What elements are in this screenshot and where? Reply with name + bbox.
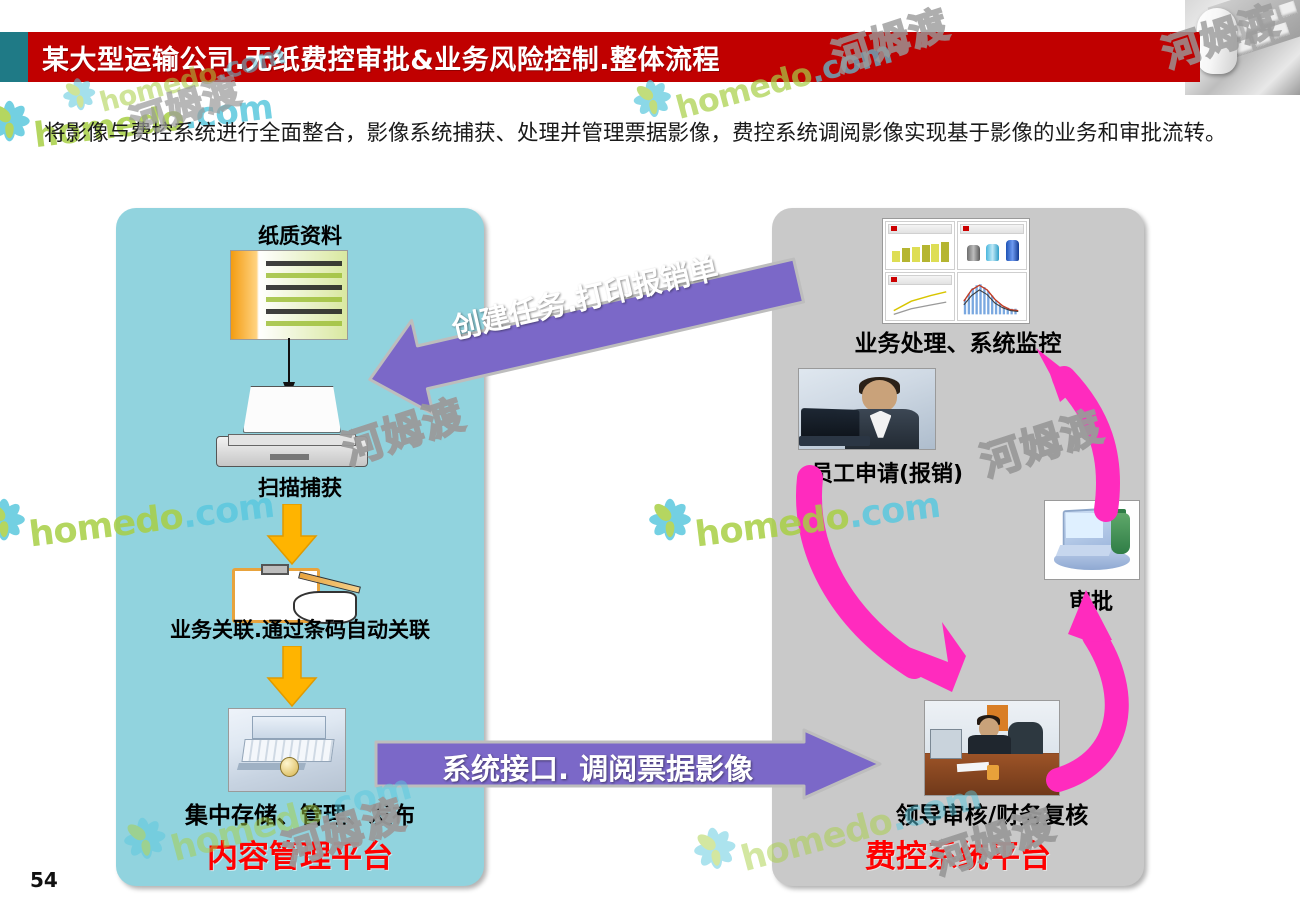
pink-arrow-review-to-approve bbox=[1028, 584, 1148, 784]
flatbed-scanner-image bbox=[216, 386, 366, 472]
paper-stack-image bbox=[230, 250, 348, 340]
flower-icon bbox=[0, 100, 30, 142]
connector-create-task-arrow: 创建任务.打印报销单 bbox=[360, 268, 810, 408]
pink-arrow-approve-to-monitor bbox=[1002, 344, 1142, 514]
dash-cell-cylinder bbox=[957, 221, 1027, 270]
flower-icon bbox=[0, 498, 25, 541]
slide-title-bar: 某大型运输公司.无纸费控审批&业务风险控制.整体流程 bbox=[0, 32, 1200, 82]
corner-photo-decoration bbox=[1185, 0, 1300, 95]
pink-arrow-employee-to-review bbox=[802, 470, 1022, 720]
yellow-down-arrow-2 bbox=[266, 646, 318, 708]
employee-laptop-photo bbox=[798, 368, 936, 450]
page-title: 某大型运输公司.无纸费控审批&业务风险控制.整体流程 bbox=[42, 38, 720, 77]
dashboard-charts-image bbox=[882, 218, 1030, 324]
flower-icon bbox=[690, 824, 739, 873]
left-platform-label: 内容管理平台 bbox=[116, 831, 484, 876]
lead-paragraph: 将影像与费控系统进行全面整合，影像系统捕获、处理并管理票据影像，费控系统调阅影像… bbox=[44, 115, 1259, 153]
node-label-review: 领导审核/财务复核 bbox=[832, 796, 1152, 830]
dash-cell-area bbox=[957, 272, 1027, 321]
node-label-scan: 扫描捕获 bbox=[116, 472, 484, 502]
page-number: 54 bbox=[30, 868, 58, 892]
node-label-link: 业务关联.通过条码自动关联 bbox=[116, 614, 484, 644]
dash-cell-bar bbox=[885, 221, 955, 270]
flower-icon bbox=[648, 498, 691, 541]
slide-canvas: 某大型运输公司.无纸费控审批&业务风险控制.整体流程 homedo.com 将影… bbox=[0, 0, 1300, 900]
flower-icon bbox=[630, 77, 674, 121]
title-bar-left-cap bbox=[0, 32, 28, 82]
yellow-down-arrow-1 bbox=[266, 504, 318, 566]
node-label-store: 集中存储、管理、发布 bbox=[116, 796, 484, 830]
desk-computer-image bbox=[228, 708, 346, 792]
connector-system-interface-label: 系统接口. 调阅票据影像 bbox=[442, 746, 753, 788]
mouse-photo bbox=[1197, 8, 1237, 74]
node-label-paper: 纸质资料 bbox=[116, 220, 484, 250]
dash-cell-line bbox=[885, 272, 955, 321]
right-platform-label: 费控系统平台 bbox=[772, 831, 1144, 876]
connector-system-interface-arrow: 系统接口. 调阅票据影像 bbox=[374, 728, 884, 800]
